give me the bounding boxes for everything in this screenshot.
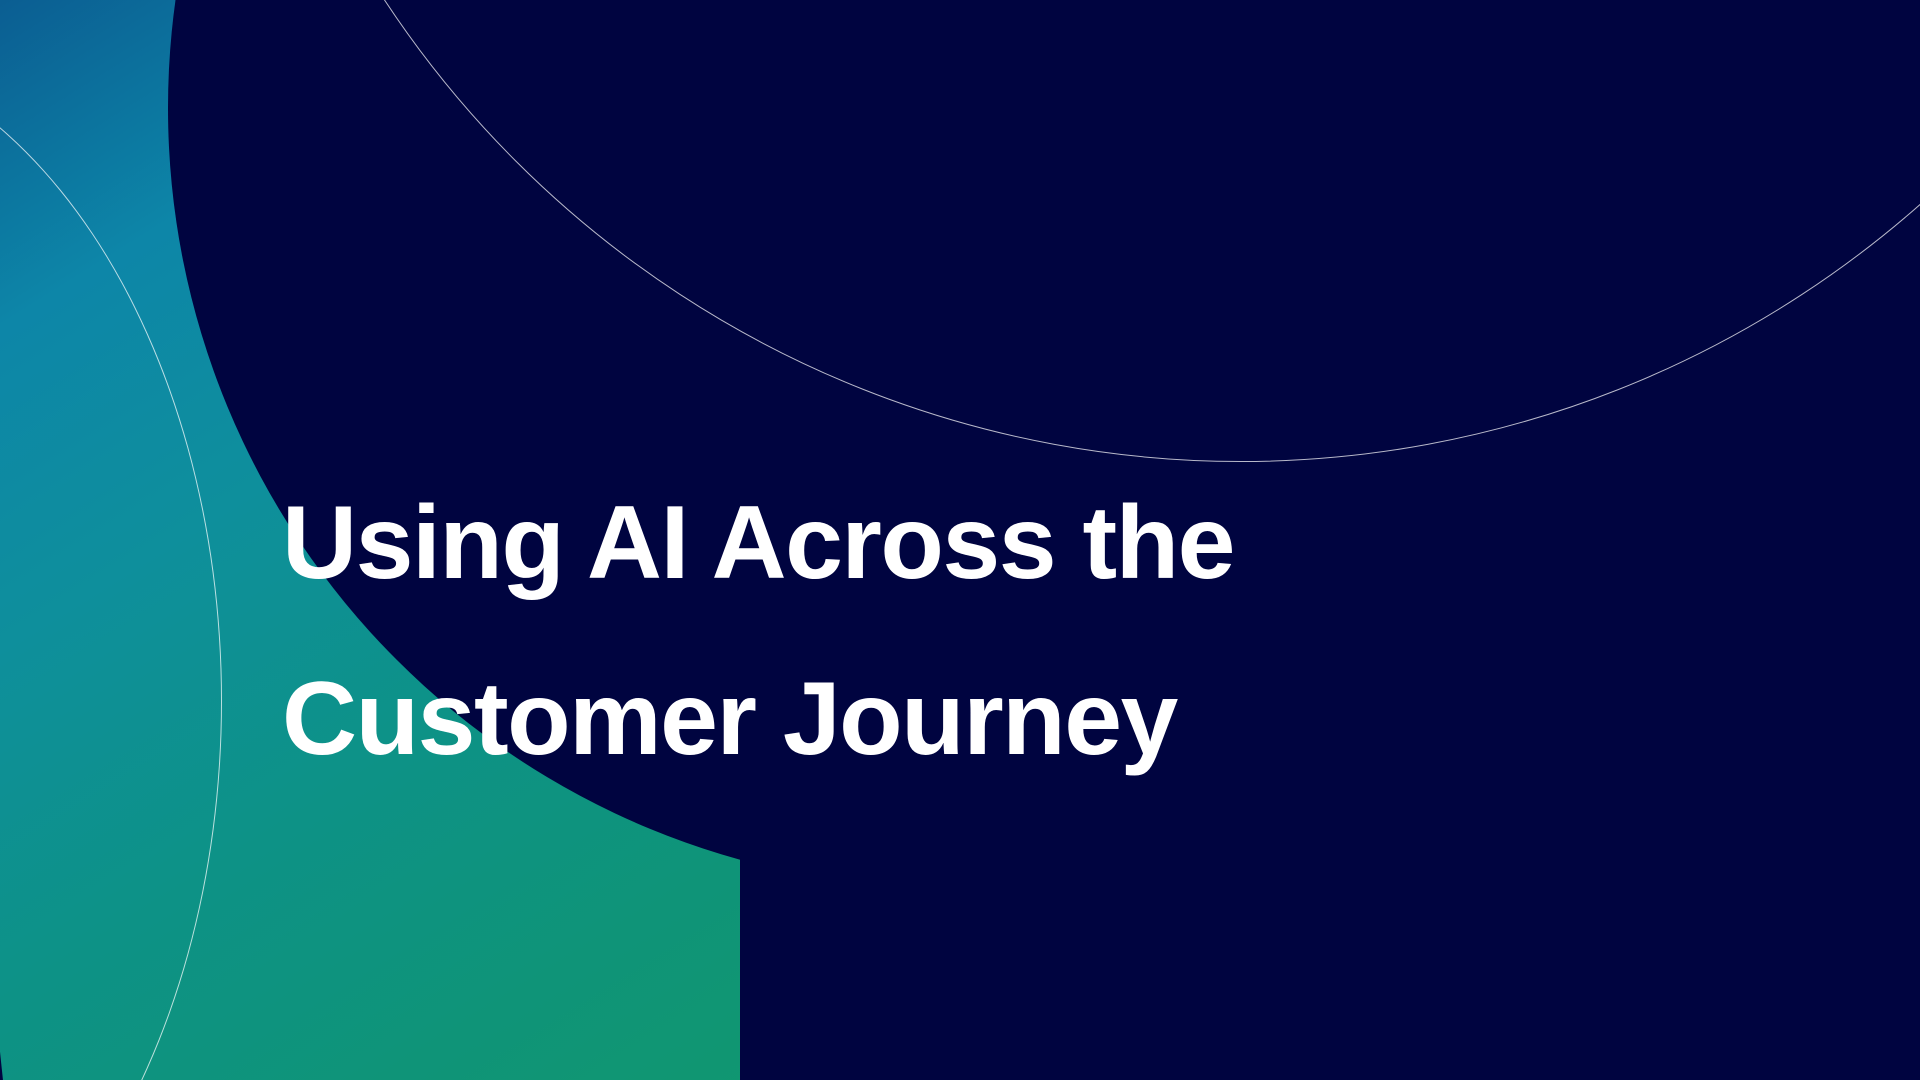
title-slide: Using AI Across the Customer Journey bbox=[0, 0, 1920, 1080]
title-line-2: Customer Journey bbox=[282, 631, 1682, 807]
title-line-1: Using AI Across the bbox=[282, 455, 1682, 631]
page-title: Using AI Across the Customer Journey bbox=[282, 455, 1682, 807]
